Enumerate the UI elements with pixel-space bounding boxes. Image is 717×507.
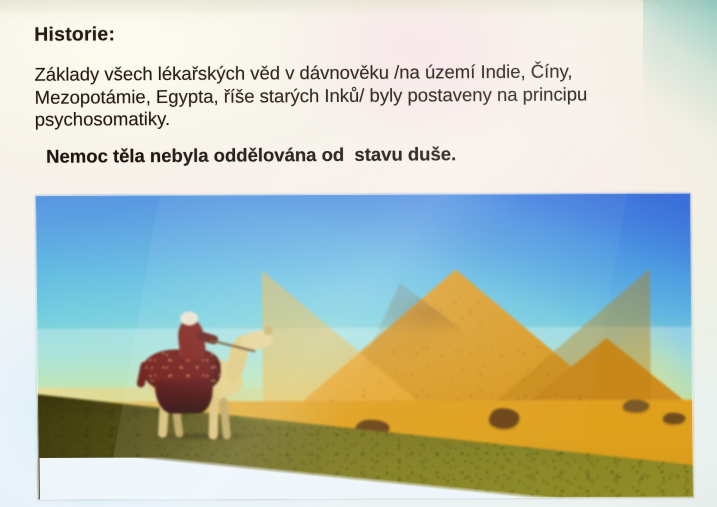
camel-ear [263,324,274,336]
emphasis-line: Nemoc těla nebyla oddělována od stavu du… [41,143,456,168]
slide-text-block: Historie: Základy všech lékařských věd v… [0,0,717,190]
rider-head [180,311,198,325]
paragraph-line-3: psychosomatiky. [35,105,695,132]
rock-4 [663,413,685,424]
rock-2 [489,408,519,428]
rock-3 [623,400,649,412]
body-paragraph: Základy všech lékařských věd v dávnověku… [34,60,694,132]
camel-saddle-skirt [155,379,213,413]
camel-and-rider [132,313,283,438]
projected-slide: Historie: Základy všech lékařských věd v… [0,0,717,507]
slide-photo [35,193,694,500]
desert-photo-canvas [35,193,694,500]
page-title: Historie: [34,23,115,46]
